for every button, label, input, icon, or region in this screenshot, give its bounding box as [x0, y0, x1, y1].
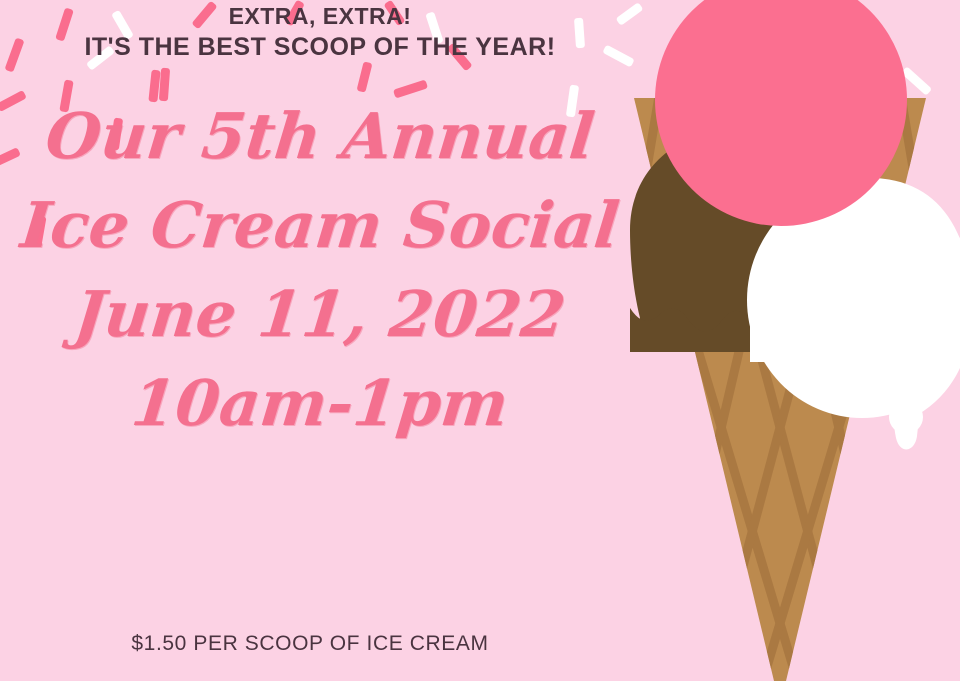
vanilla-droplet — [889, 400, 923, 434]
price-note: $1.50 PER SCOOP OF ICE CREAM — [0, 632, 620, 656]
sprinkle — [159, 68, 170, 102]
event-time: 10am-1pm — [0, 372, 643, 435]
headline-line-2: IT'S THE BEST SCOOP OF THE YEAR! — [0, 31, 640, 63]
event-title-line-2: Ice Cream Social — [0, 194, 643, 257]
sprinkle — [357, 61, 373, 92]
event-title-block: Our 5th Annual Ice Cream Social June 11,… — [0, 105, 640, 435]
event-date: June 11, 2022 — [0, 283, 643, 346]
sprinkle — [393, 79, 428, 98]
ice-cream-social-flyer: EXTRA, EXTRA! IT'S THE BEST SCOOP OF THE… — [0, 0, 960, 681]
event-title-line-1: Our 5th Annual — [0, 105, 643, 168]
headline-line-1: EXTRA, EXTRA! — [0, 2, 640, 31]
headline-block: EXTRA, EXTRA! IT'S THE BEST SCOOP OF THE… — [0, 2, 640, 63]
ice-cream-cone-illustration — [600, 0, 960, 681]
